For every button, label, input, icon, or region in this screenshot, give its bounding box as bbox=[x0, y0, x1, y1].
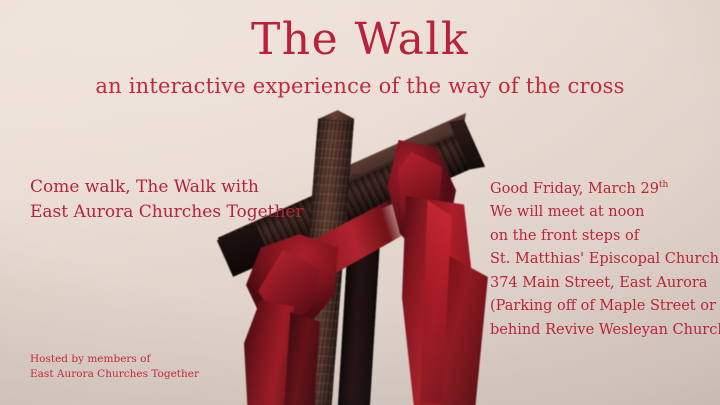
event-poster: The Walk an interactive experience of th… bbox=[0, 0, 720, 405]
event-parking-line-2: behind Revive Wesleyan Church) bbox=[490, 319, 714, 342]
event-time-line: We will meet at noon bbox=[490, 201, 714, 224]
invitation-line-2: East Aurora Churches Together bbox=[30, 200, 300, 225]
event-date-line: Good Friday, March 29th bbox=[490, 178, 714, 201]
event-venue-name: St. Matthias' Episcopal Church bbox=[490, 248, 714, 271]
host-credit: Hosted by members of East Aurora Churche… bbox=[30, 352, 199, 382]
event-street-address: 374 Main Street, East Aurora bbox=[490, 272, 714, 295]
page-subtitle: an interactive experience of the way of … bbox=[0, 74, 720, 98]
page-title: The Walk bbox=[0, 14, 720, 65]
event-date-ordinal: th bbox=[659, 180, 668, 190]
invitation-text: Come walk, The Walk with East Aurora Chu… bbox=[30, 175, 300, 224]
event-details: Good Friday, March 29th We will meet at … bbox=[490, 178, 714, 342]
host-credit-line-2: East Aurora Churches Together bbox=[30, 367, 199, 382]
event-location-intro: on the front steps of bbox=[490, 225, 714, 248]
event-date-text: Good Friday, March 29 bbox=[490, 181, 659, 197]
event-parking-line-1: (Parking off of Maple Street or bbox=[490, 295, 714, 318]
host-credit-line-1: Hosted by members of bbox=[30, 352, 199, 367]
invitation-line-1: Come walk, The Walk with bbox=[30, 175, 300, 200]
